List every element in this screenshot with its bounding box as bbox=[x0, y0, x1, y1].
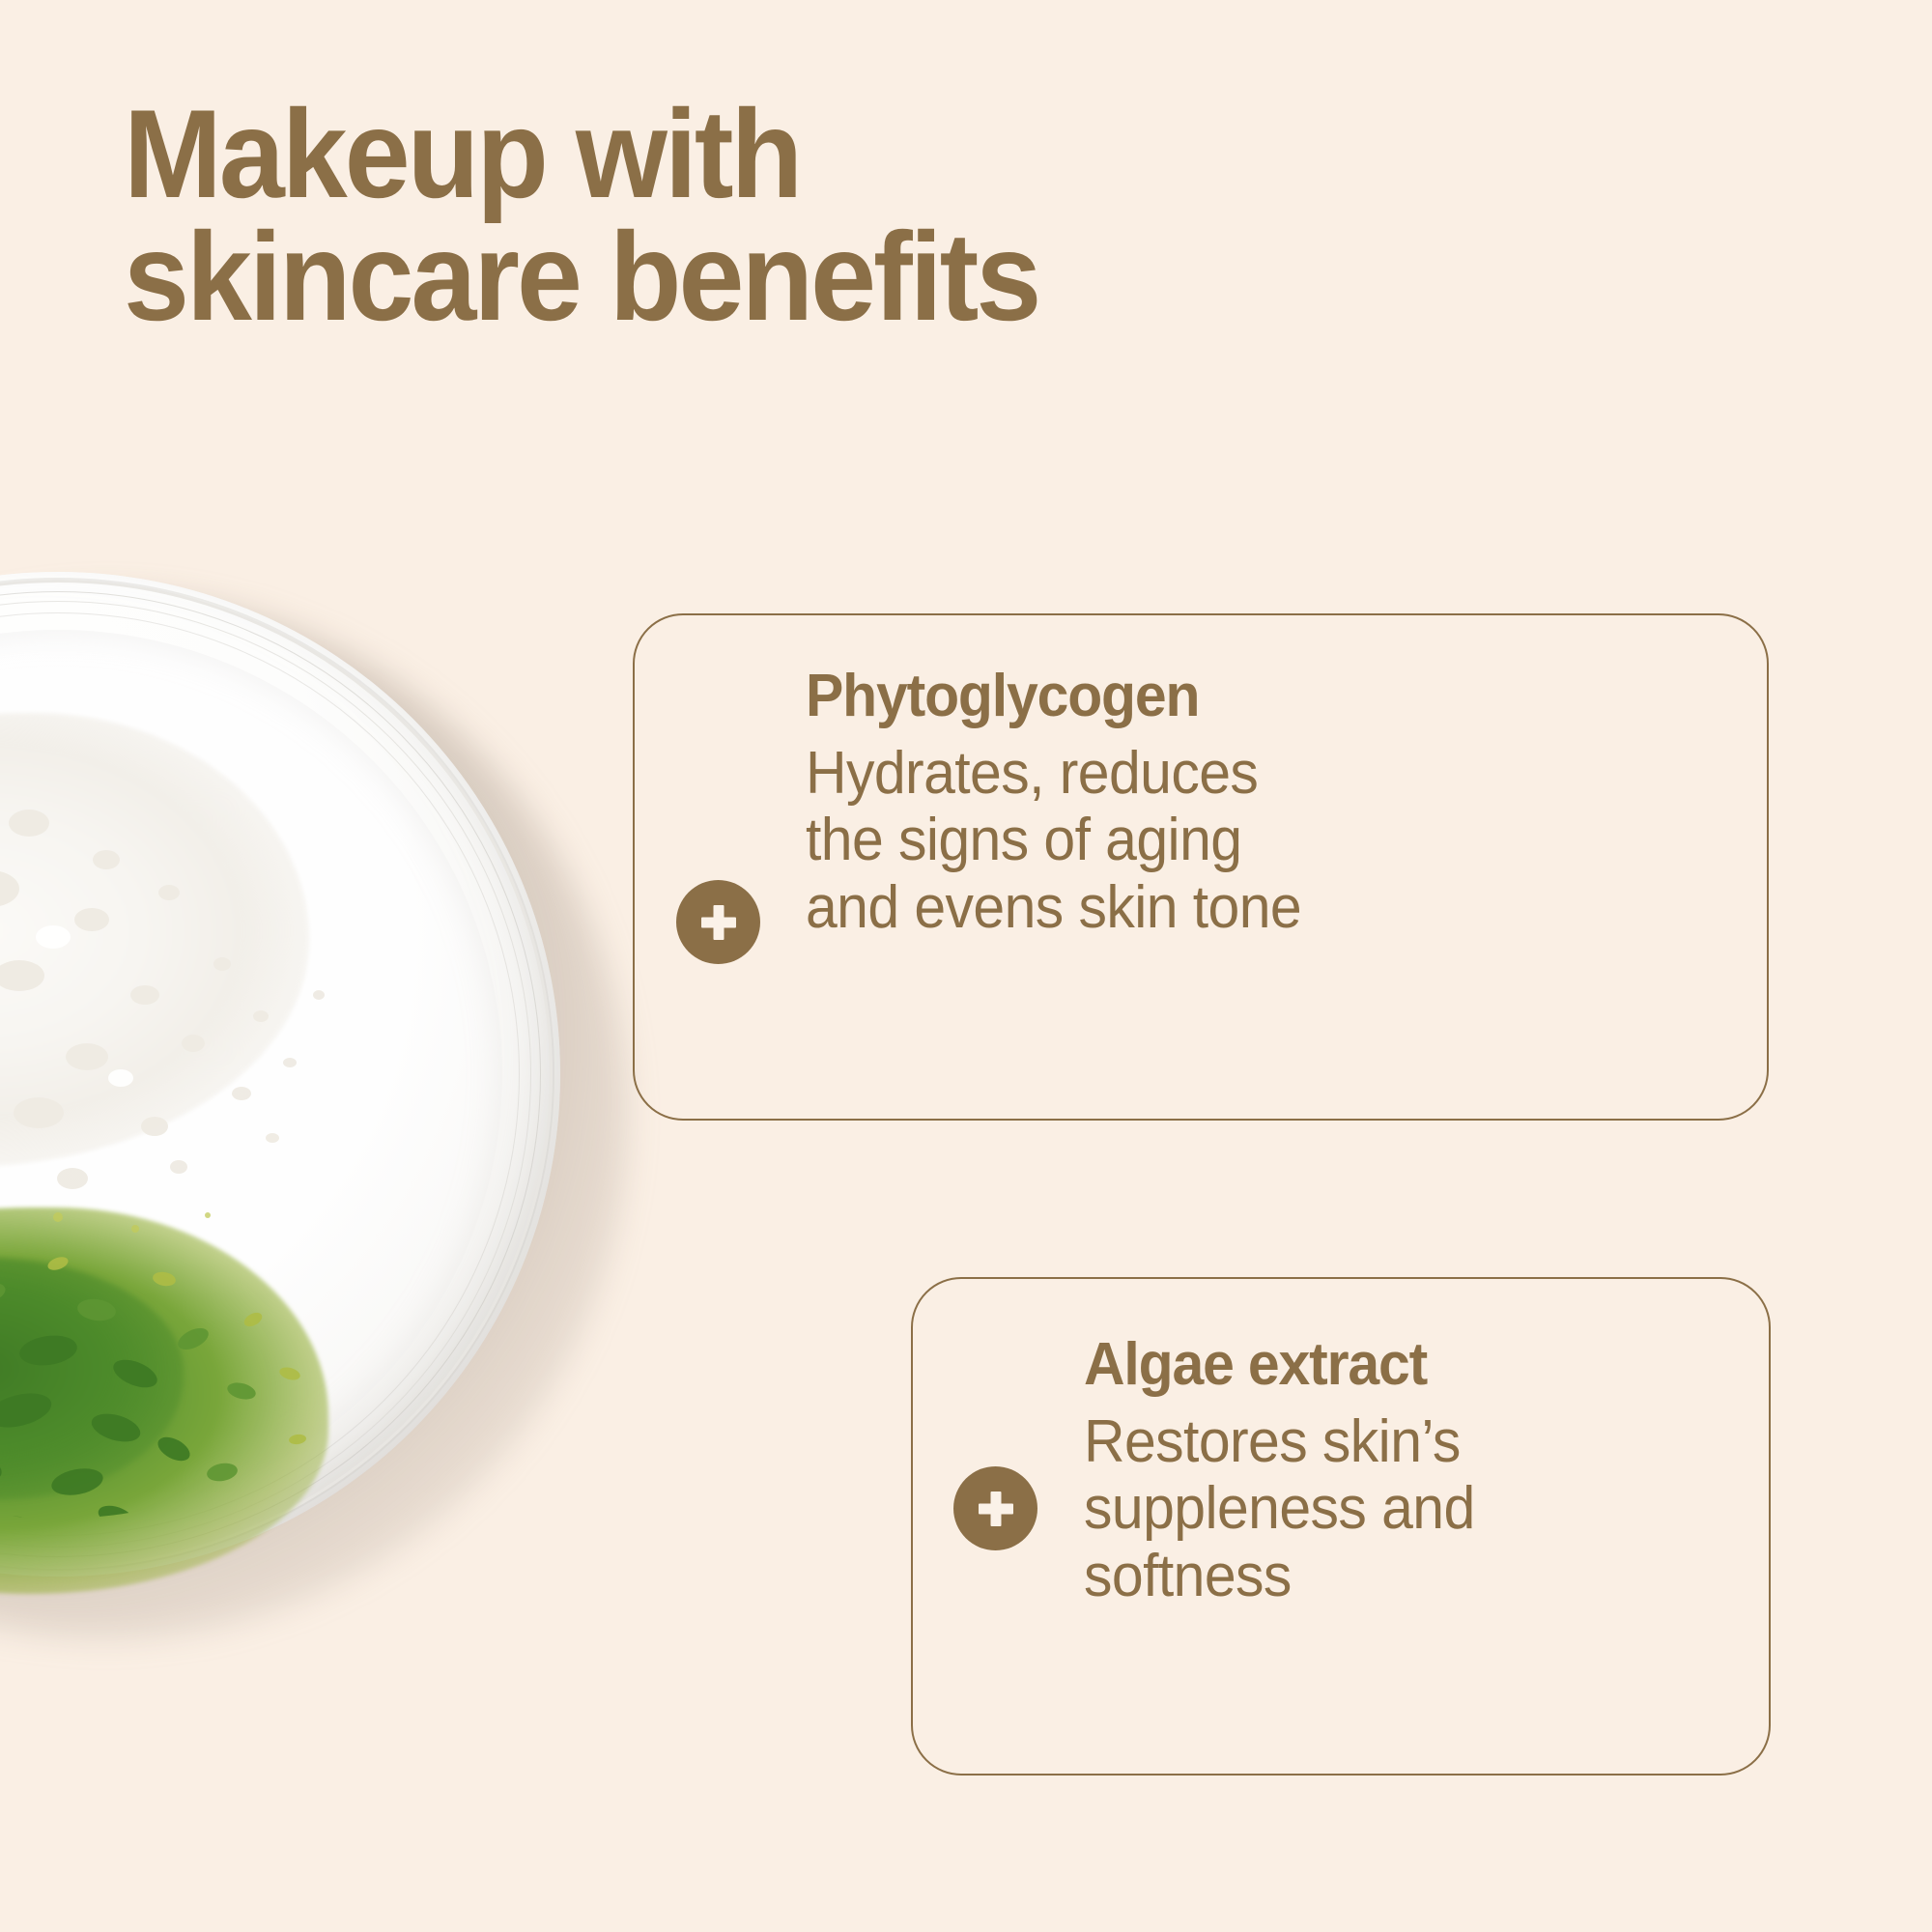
benefit-description-line: Hydrates, reduces bbox=[806, 740, 1678, 807]
benefit-text-block: Algae extract Restores skin’s suppleness… bbox=[1084, 1335, 1741, 1609]
benefit-card-content: Algae extract Restores skin’s suppleness… bbox=[913, 1279, 1769, 1774]
benefit-card-phytoglycogen[interactable]: Phytoglycogen Hydrates, reduces the sign… bbox=[633, 613, 1769, 1121]
benefit-description-line: and evens skin tone bbox=[806, 874, 1678, 941]
benefit-description-line: softness bbox=[1084, 1543, 1708, 1609]
headline-line-1: Makeup with bbox=[124, 93, 1486, 215]
benefit-title: Algae extract bbox=[1084, 1335, 1708, 1395]
benefit-text-block: Phytoglycogen Hydrates, reduces the sign… bbox=[806, 667, 1723, 941]
benefit-description-line: Restores skin’s bbox=[1084, 1408, 1708, 1475]
benefit-description-line: the signs of aging bbox=[806, 807, 1678, 873]
headline-line-2: skincare benefits bbox=[124, 215, 1486, 338]
benefit-description-line: suppleness and bbox=[1084, 1475, 1708, 1542]
benefit-description: Hydrates, reduces the signs of aging and… bbox=[806, 740, 1678, 941]
benefit-title: Phytoglycogen bbox=[806, 667, 1678, 726]
benefit-card-algae-extract[interactable]: Algae extract Restores skin’s suppleness… bbox=[911, 1277, 1771, 1776]
plus-icon bbox=[953, 1466, 1037, 1550]
plus-icon bbox=[676, 880, 760, 964]
benefit-card-content: Phytoglycogen Hydrates, reduces the sign… bbox=[635, 615, 1767, 1119]
benefit-description: Restores skin’s suppleness and softness bbox=[1084, 1408, 1708, 1609]
infographic-canvas: Makeup with skincare benefits Phytoglyco… bbox=[0, 0, 1932, 1932]
page-title: Makeup with skincare benefits bbox=[124, 93, 1486, 339]
